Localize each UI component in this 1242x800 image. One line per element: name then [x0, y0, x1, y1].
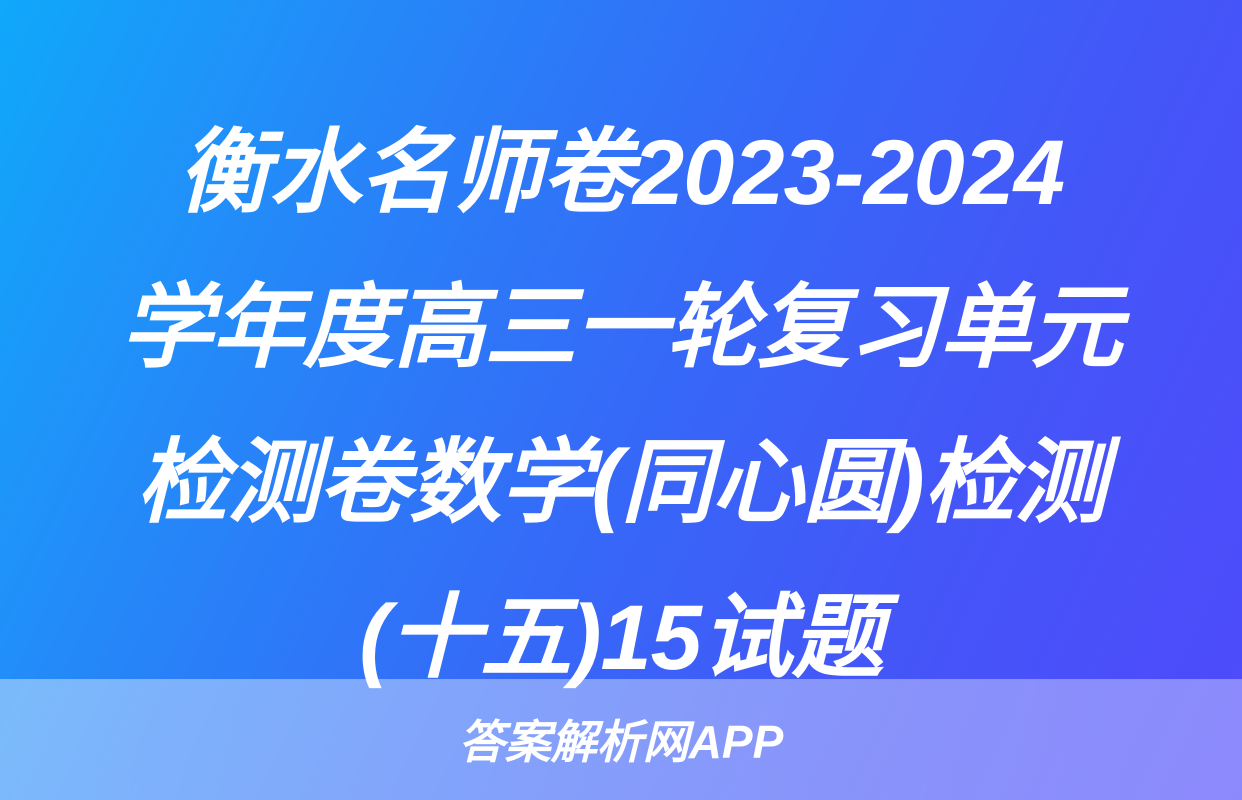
title-line-2: 学年度高三一轮复习单元: [48, 251, 1194, 406]
title-line-1: 衡水名师卷2023-2024: [48, 96, 1194, 251]
exam-title-card: 衡水名师卷2023-2024 学年度高三一轮复习单元 检测卷数学(同心圆)检测 …: [0, 0, 1242, 800]
app-watermark-label: 答案解析网APP: [459, 719, 784, 765]
footer-watermark-band: 答案解析网APP: [0, 679, 1242, 800]
title-line-3: 检测卷数学(同心圆)检测: [48, 406, 1194, 561]
